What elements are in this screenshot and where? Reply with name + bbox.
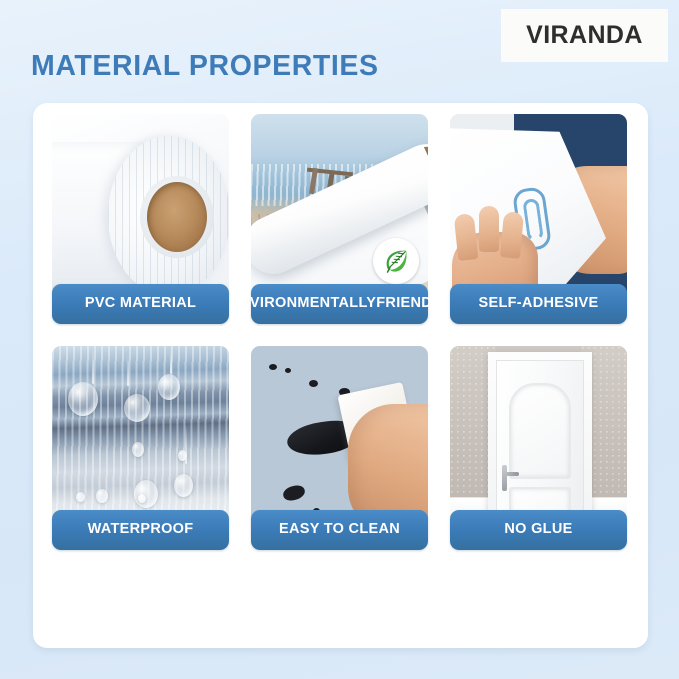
feature-label-pvc-material: PVC MATERIAL: [52, 284, 229, 324]
feature-label-environmentally-friendly: ENVIRONMENTALLY FRIENDLY: [251, 284, 428, 324]
feature-card-pvc-material[interactable]: PVC MATERIAL: [52, 114, 229, 324]
droplet-trail: [92, 350, 94, 384]
stain-mark: [285, 368, 291, 373]
water-droplet: [174, 474, 193, 497]
feature-card-self-adhesive[interactable]: SELF-ADHESIVE: [450, 114, 627, 324]
easy-to-clean-artwork: [251, 346, 428, 532]
feature-card-waterproof[interactable]: WATERPROOF: [52, 346, 229, 550]
stain-mark: [269, 364, 277, 370]
feature-label-line-2: FRIENDLY: [376, 296, 450, 311]
feature-label-self-adhesive: SELF-ADHESIVE: [450, 284, 627, 324]
brand-logo-plate: VIRANDA: [501, 9, 668, 62]
door-slab: [496, 360, 584, 532]
door-panel-top: [509, 383, 571, 479]
door-artwork: [450, 346, 627, 532]
eco-roll-image: [251, 114, 428, 306]
door-handle-icon: [502, 465, 507, 491]
water-droplet: [124, 394, 150, 422]
pvc-roll-artwork: [52, 114, 229, 306]
droplet-trail: [170, 348, 172, 374]
water-droplet: [96, 489, 108, 503]
waterproof-artwork: [52, 346, 229, 532]
feature-label-no-glue: NO GLUE: [450, 510, 627, 550]
brand-name: VIRANDA: [526, 21, 643, 50]
page-title: MATERIAL PROPERTIES: [31, 50, 379, 83]
eco-artwork: [251, 114, 428, 306]
feature-card-environmentally-friendly[interactable]: ENVIRONMENTALLY FRIENDLY: [251, 114, 428, 324]
water-droplet: [158, 374, 180, 400]
pvc-roll-image: [52, 114, 229, 306]
door-frame: [488, 352, 592, 532]
feature-panel: PVC MATERIAL: [33, 103, 648, 648]
feature-grid: PVC MATERIAL: [52, 114, 629, 550]
pvc-cardboard-core: [147, 182, 207, 252]
feature-label-line-1: ENVIRONMENTALLY: [229, 296, 376, 311]
feature-card-no-glue[interactable]: NO GLUE: [450, 346, 627, 550]
leaf-icon: [373, 238, 419, 284]
finger: [479, 206, 499, 252]
eco-roll-cut-edge: [424, 139, 428, 192]
finger: [500, 211, 524, 259]
page-header: MATERIAL PROPERTIES VIRANDA: [0, 0, 679, 103]
droplet-trail: [185, 426, 187, 464]
stain-mark: [309, 380, 318, 387]
self-adhesive-image: [450, 114, 627, 306]
feature-label-waterproof: WATERPROOF: [52, 510, 229, 550]
waterproof-image: [52, 346, 229, 532]
feature-label-easy-to-clean: EASY TO CLEAN: [251, 510, 428, 550]
peel-artwork: [450, 114, 627, 306]
feature-card-easy-to-clean[interactable]: EASY TO CLEAN: [251, 346, 428, 550]
water-droplet: [76, 492, 85, 502]
water-droplet: [132, 442, 144, 457]
no-glue-image: [450, 346, 627, 532]
water-droplet: [138, 494, 146, 503]
easy-to-clean-image: [251, 346, 428, 532]
water-droplet: [134, 480, 158, 508]
water-droplet: [68, 382, 98, 416]
droplet-trail: [127, 356, 129, 386]
